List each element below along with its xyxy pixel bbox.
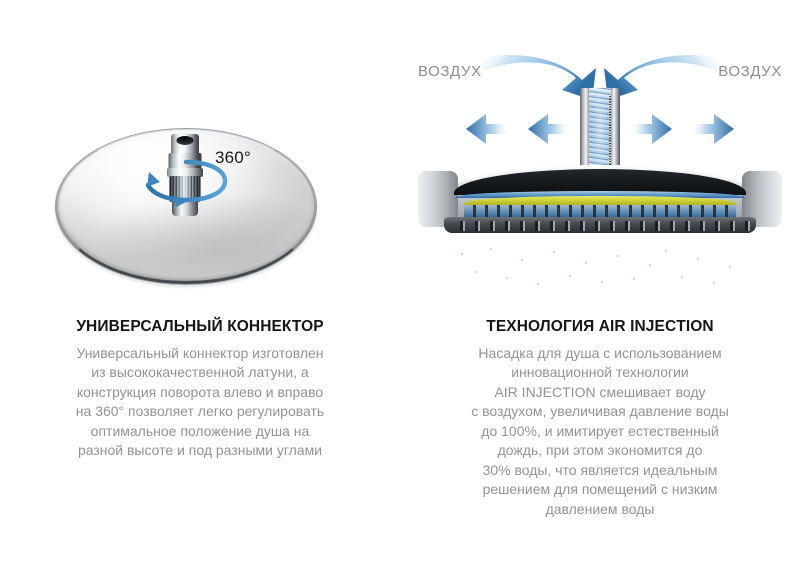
body-line: 30% воды, что является идеальным <box>430 461 770 481</box>
curved-air-inlet-arrow-left <box>478 55 596 100</box>
body-line: дождь, при этом экономится до <box>430 441 770 461</box>
feature-body-air-injection: Насадка для душа с использованием иннова… <box>430 344 770 520</box>
rotation-angle-badge: 360° <box>215 148 251 168</box>
connector-base <box>172 200 198 216</box>
body-line: давлением воды <box>430 500 770 520</box>
feature-title-universal-connector: УНИВЕРСАЛЬНЫЙ КОННЕКТОР <box>30 318 370 337</box>
body-line: конструкция поворота влево и вправо <box>30 383 370 403</box>
universal-connector-text: УНИВЕРСАЛЬНЫЙ КОННЕКТОР Универсальный ко… <box>30 318 370 461</box>
connector-knurled-nut <box>170 176 201 202</box>
connector-bore-hole <box>177 136 194 145</box>
air-injection-text: ТЕХНОЛОГИЯ AIR INJECTION Насадка для душ… <box>430 318 770 519</box>
feature-column-universal-connector: 360° УНИВЕРСАЛЬНЫЙ КОННЕКТОР Универсальн… <box>0 0 400 564</box>
nozzle-outlets <box>450 221 750 231</box>
universal-connector-part <box>167 134 203 220</box>
feature-columns: 360° УНИВЕРСАЛЬНЫЙ КОННЕКТОР Универсальн… <box>0 0 800 564</box>
curved-air-inlet-arrow-right <box>604 55 722 100</box>
product-feature-page: 360° УНИВЕРСАЛЬНЫЙ КОННЕКТОР Универсальн… <box>0 0 800 564</box>
universal-connector-figure: 360° <box>0 0 400 310</box>
feature-column-air-injection: ВОЗДУХ ВОЗДУХ <box>400 0 800 564</box>
body-line: оптимальное положение душа на <box>30 422 370 442</box>
body-line: решением для помещений с низким <box>430 480 770 500</box>
body-line: до 100%, и имитирует естественный <box>430 422 770 442</box>
body-line: из высококачественной латуни, а <box>30 363 370 383</box>
body-line: разной высоте и под разными углами <box>30 441 370 461</box>
body-line: Насадка для душа с использованием <box>430 344 770 364</box>
body-line: инновационной технологии <box>430 363 770 383</box>
shower-head-cutaway-body <box>420 165 780 235</box>
body-line: Универсальный коннектор изготовлен <box>30 344 370 364</box>
outward-arrow-right-outer <box>690 114 734 144</box>
outward-arrow-left-inner <box>528 114 570 144</box>
body-line: с воздухом, увеличивая давление воды <box>430 402 770 422</box>
shower-disc-assembly: 360° <box>55 128 315 288</box>
water-spray-rain <box>452 232 748 310</box>
body-line: на 360° позволяет легко регулировать <box>30 402 370 422</box>
connector-midsection <box>169 153 202 169</box>
body-line: AIR INJECTION смешивает воду <box>430 383 770 403</box>
feature-body-universal-connector: Универсальный коннектор изготовлен из вы… <box>30 344 370 461</box>
outward-arrow-left-outer <box>466 114 510 144</box>
feature-title-air-injection: ТЕХНОЛОГИЯ AIR INJECTION <box>430 318 770 337</box>
air-injection-figure: ВОЗДУХ ВОЗДУХ <box>400 0 800 310</box>
outward-arrow-right-inner <box>630 114 672 144</box>
